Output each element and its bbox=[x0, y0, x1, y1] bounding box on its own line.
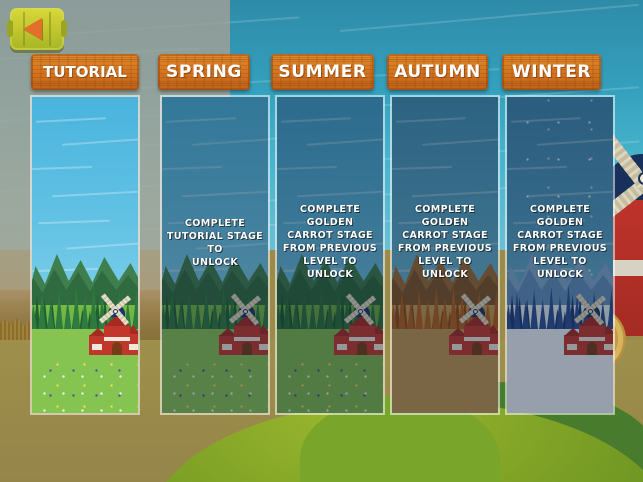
lock-message-line: FROM PREVIOUS bbox=[510, 242, 610, 255]
barn-icon bbox=[88, 299, 138, 355]
level-panel-tutorial[interactable] bbox=[30, 95, 140, 415]
level-sign-winter[interactable]: WINTER bbox=[502, 54, 601, 90]
lock-message-line: CARROT STAGE bbox=[510, 229, 610, 242]
lock-message-line: LEVEL TO UNLOCK bbox=[510, 255, 610, 281]
lock-message-line: COMPLETE bbox=[165, 217, 265, 230]
lock-message-line: COMPLETE GOLDEN bbox=[395, 203, 495, 229]
lock-message-line: LEVEL TO UNLOCK bbox=[395, 255, 495, 281]
level-title-summer: SUMMER bbox=[278, 62, 366, 82]
lock-message-summer: COMPLETE GOLDENCARROT STAGEFROM PREVIOUS… bbox=[277, 203, 383, 281]
lock-message-line: COMPLETE GOLDEN bbox=[280, 203, 380, 229]
level-panel-autumn[interactable]: COMPLETE GOLDENCARROT STAGEFROM PREVIOUS… bbox=[390, 95, 500, 415]
lock-message-line: CARROT STAGE bbox=[280, 229, 380, 242]
level-title-tutorial: TUTORIAL bbox=[43, 63, 127, 81]
scene-flowers bbox=[32, 363, 138, 413]
left-arrow-icon bbox=[23, 18, 42, 40]
level-title-autumn: AUTUMN bbox=[394, 62, 481, 82]
level-sign-spring[interactable]: SPRING bbox=[158, 54, 250, 90]
level-sign-summer[interactable]: SUMMER bbox=[271, 54, 374, 90]
level-panel-spring[interactable]: COMPLETETUTORIAL STAGE TOUNLOCK bbox=[160, 95, 270, 415]
level-panel-summer[interactable]: COMPLETE GOLDENCARROT STAGEFROM PREVIOUS… bbox=[275, 95, 385, 415]
lock-message-spring: COMPLETETUTORIAL STAGE TOUNLOCK bbox=[162, 217, 268, 269]
level-scene-tutorial bbox=[32, 97, 138, 413]
level-title-spring: SPRING bbox=[166, 62, 242, 82]
lock-message-autumn: COMPLETE GOLDENCARROT STAGEFROM PREVIOUS… bbox=[392, 203, 498, 281]
level-sign-autumn[interactable]: AUTUMN bbox=[387, 54, 488, 90]
level-sign-tutorial[interactable]: TUTORIAL bbox=[31, 54, 139, 90]
lock-message-line: CARROT STAGE bbox=[395, 229, 495, 242]
level-select-screen: COMPLETETUTORIAL STAGE TOUNLOCKCOMPLETE … bbox=[0, 0, 643, 482]
back-button[interactable] bbox=[10, 8, 64, 50]
level-title-winter: WINTER bbox=[512, 62, 591, 82]
lock-message-line: FROM PREVIOUS bbox=[395, 242, 495, 255]
lock-message-line: LEVEL TO UNLOCK bbox=[280, 255, 380, 281]
lock-message-winter: COMPLETE GOLDENCARROT STAGEFROM PREVIOUS… bbox=[507, 203, 613, 281]
lock-message-line: TUTORIAL STAGE TO bbox=[165, 230, 265, 256]
level-panel-winter[interactable]: COMPLETE GOLDENCARROT STAGEFROM PREVIOUS… bbox=[505, 95, 615, 415]
lock-message-line: COMPLETE GOLDEN bbox=[510, 203, 610, 229]
lock-message-line: UNLOCK bbox=[165, 256, 265, 269]
lock-message-line: FROM PREVIOUS bbox=[280, 242, 380, 255]
